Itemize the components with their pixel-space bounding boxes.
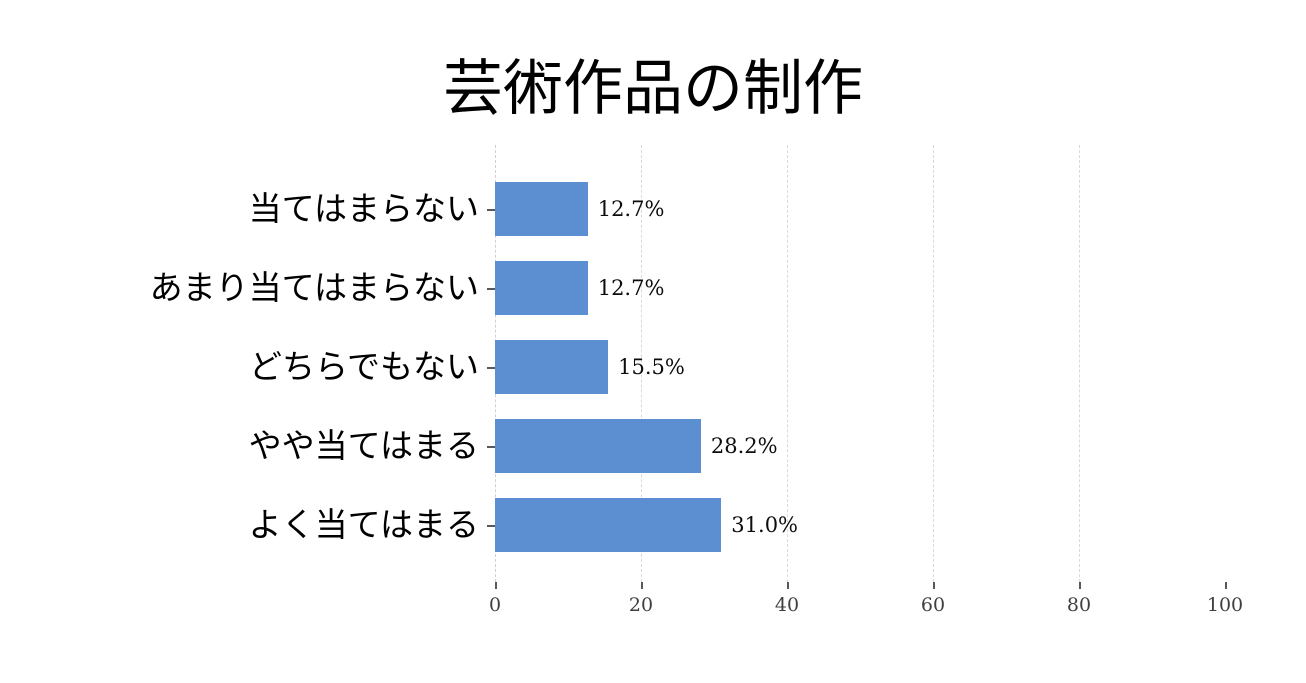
x-axis-tick [495,582,497,589]
chart-title: 芸術作品の制作 [0,52,1306,126]
y-axis-tick [487,446,495,448]
x-axis-tick-label: 80 [1067,593,1091,617]
bar-value-label: 12.7% [598,261,665,315]
y-axis-label: 当てはまらない [0,182,487,236]
x-axis-tick [1225,582,1227,589]
bar-value-label: 15.5% [618,340,685,394]
bar[interactable] [495,498,721,552]
gridline-60 [933,145,934,582]
x-axis-tick [787,582,789,589]
plot-area: 12.7%12.7%15.5%28.2%31.0% 020406080100 [495,145,1225,582]
bar-value-label: 28.2% [711,419,778,473]
y-axis-label: やや当てはまる [0,419,487,473]
y-axis-tick [487,288,495,290]
x-axis-tick-label: 0 [489,593,501,617]
x-axis-tick-label: 60 [921,593,945,617]
y-axis-tick [487,367,495,369]
x-axis-tick-label: 20 [629,593,653,617]
bar-chart: 芸術作品の制作 当てはまらないあまり当てはまらないどちらでもないやや当てはまるよ… [0,0,1306,683]
x-axis-tick [1079,582,1081,589]
y-axis-label: よく当てはまる [0,498,487,552]
bar[interactable] [495,340,608,394]
x-axis-tick [933,582,935,589]
gridline-80 [1079,145,1080,582]
y-axis-tick [487,209,495,211]
x-axis-tick [641,582,643,589]
bar-value-label: 12.7% [598,182,665,236]
y-axis-label: あまり当てはまらない [0,261,487,315]
y-axis-category-labels: 当てはまらないあまり当てはまらないどちらでもないやや当てはまるよく当てはまる [0,145,487,582]
bar[interactable] [495,419,701,473]
y-axis-label: どちらでもない [0,340,487,394]
bar-value-label: 31.0% [731,498,798,552]
x-axis-tick-label: 40 [775,593,799,617]
bar[interactable] [495,261,588,315]
x-axis-tick-label: 100 [1207,593,1243,617]
y-axis-tick [487,525,495,527]
bar[interactable] [495,182,588,236]
